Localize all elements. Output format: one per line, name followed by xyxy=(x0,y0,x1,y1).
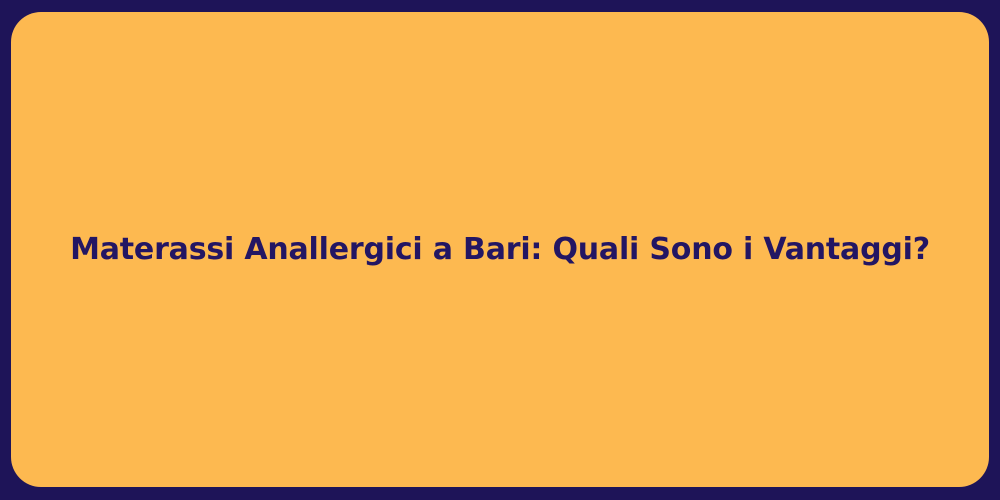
page-title: Materassi Anallergici a Bari: Quali Sono… xyxy=(70,231,930,269)
page-frame: Materassi Anallergici a Bari: Quali Sono… xyxy=(0,0,1000,500)
hero-card: Materassi Anallergici a Bari: Quali Sono… xyxy=(11,12,989,487)
